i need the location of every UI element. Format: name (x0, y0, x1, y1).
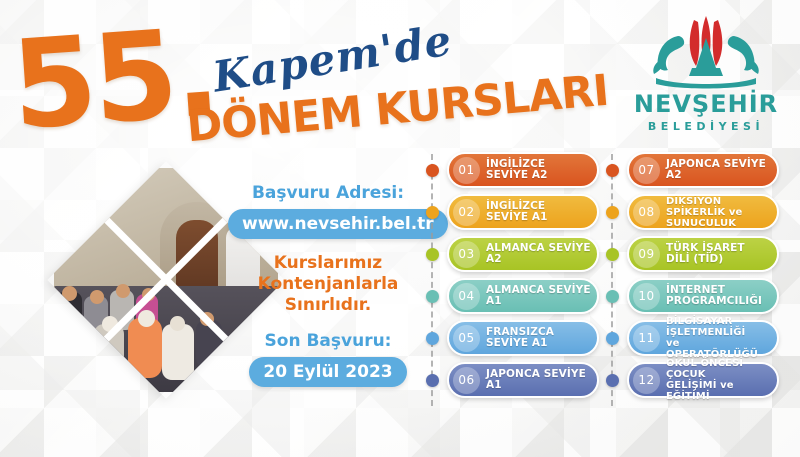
course-list-right: 07 JAPONCA SEVİYE A2 08 DİKSİYON SPİKERL… (605, 150, 780, 402)
course-item[interactable]: 10 İNTERNET PROGRAMCILIĞI (605, 276, 780, 318)
course-label-wrap: JAPONCA SEVİYE A2 (666, 159, 777, 182)
course-label: İNGİLİZCE SEVİYE A1 (486, 201, 597, 224)
course-item[interactable]: 01 İNGİLİZCE SEVİYE A2 (425, 150, 600, 192)
course-pill[interactable]: 01 İNGİLİZCE SEVİYE A2 (447, 152, 599, 188)
poster-root: 55. Kapem'de DÖNEM KURSLARI (0, 0, 800, 457)
course-label-wrap: OKUL ÖNCESİ ÇOCUK GELİŞİMİ ve EĞİTİMİ (666, 358, 777, 402)
course-label: ALMANCA SEVİYE A1 (486, 285, 597, 308)
course-pill[interactable]: 03 ALMANCA SEVİYE A2 (447, 236, 599, 272)
headline-block: 55. Kapem'de DÖNEM KURSLARI (0, 0, 620, 160)
course-number: 11 (633, 325, 660, 352)
timeline-dot-icon (426, 206, 439, 219)
course-label-line2: ve OPERATÖRLÜĞÜ (666, 338, 771, 360)
logo-emblem-icon (626, 14, 786, 92)
course-pill[interactable]: 10 İNTERNET PROGRAMCILIĞI (627, 278, 779, 314)
application-address-link[interactable]: www.nevsehir.bel.tr (228, 209, 448, 239)
course-number: 03 (453, 241, 480, 268)
quota-note-line3: Sınırlıdır. (228, 295, 428, 316)
timeline-dot-icon (426, 374, 439, 387)
course-label-wrap: TÜRK İŞARET DİLİ (TİD) (666, 243, 777, 266)
timeline-dot-icon (606, 248, 619, 261)
course-label: JAPONCA SEVİYE A1 (486, 369, 597, 392)
course-number: 10 (633, 283, 660, 310)
deadline-date-badge: 20 Eylül 2023 (249, 357, 406, 387)
course-pill[interactable]: 12 OKUL ÖNCESİ ÇOCUK GELİŞİMİ ve EĞİTİMİ (627, 362, 779, 398)
course-label-line2: SUNUCULUK (666, 218, 771, 229)
course-label: BİLGİSAYAR İŞLETMENLİĞİ (666, 316, 771, 338)
application-address-label: Başvuru Adresi: (228, 182, 428, 204)
timeline-dot-icon (606, 206, 619, 219)
timeline-dot-icon (606, 374, 619, 387)
course-item[interactable]: 04 ALMANCA SEVİYE A1 (425, 276, 600, 318)
course-pill[interactable]: 06 JAPONCA SEVİYE A1 (447, 362, 599, 398)
course-item[interactable]: 02 İNGİLİZCE SEVİYE A1 (425, 192, 600, 234)
quota-note-line1: Kurslarımız (228, 253, 428, 274)
course-label-wrap: BİLGİSAYAR İŞLETMENLİĞİ ve OPERATÖRLÜĞÜ (666, 316, 777, 360)
course-item[interactable]: 05 FRANSIZCA SEVİYE A1 (425, 318, 600, 360)
course-pill[interactable]: 02 İNGİLİZCE SEVİYE A1 (447, 194, 599, 230)
course-label: FRANSIZCA SEVİYE A1 (486, 327, 597, 350)
quota-note: Kurslarımız Kontenjanlarla Sınırlıdır. (228, 253, 428, 316)
course-pill[interactable]: 05 FRANSIZCA SEVİYE A1 (447, 320, 599, 356)
quota-note-line2: Kontenjanlarla (228, 274, 428, 295)
course-list-left: 01 İNGİLİZCE SEVİYE A2 02 İNGİLİZCE SEVİ… (425, 150, 600, 402)
timeline-dot-icon (426, 248, 439, 261)
course-pill[interactable]: 07 JAPONCA SEVİYE A2 (627, 152, 779, 188)
timeline-dot-icon (426, 332, 439, 345)
course-number: 08 (633, 199, 660, 226)
course-number: 02 (453, 199, 480, 226)
course-pill[interactable]: 08 DİKSİYON SPİKERLİK ve SUNUCULUK (627, 194, 779, 230)
timeline-dot-icon (606, 164, 619, 177)
course-label-wrap: İNTERNET PROGRAMCILIĞI (666, 285, 777, 308)
course-item[interactable]: 08 DİKSİYON SPİKERLİK ve SUNUCULUK (605, 192, 780, 234)
application-info-block: Başvuru Adresi: www.nevsehir.bel.tr Kurs… (228, 182, 428, 387)
course-label: JAPONCA SEVİYE A2 (666, 159, 771, 182)
course-label-wrap: DİKSİYON SPİKERLİK ve SUNUCULUK (666, 196, 777, 229)
course-number: 09 (633, 241, 660, 268)
course-number: 07 (633, 157, 660, 184)
course-label: OKUL ÖNCESİ ÇOCUK (666, 358, 771, 380)
timeline-dot-icon (426, 164, 439, 177)
deadline-label: Son Başvuru: (228, 330, 428, 352)
course-label-line2: GELİŞİMİ ve EĞİTİMİ (666, 380, 771, 402)
course-item[interactable]: 03 ALMANCA SEVİYE A2 (425, 234, 600, 276)
course-pill[interactable]: 04 ALMANCA SEVİYE A1 (447, 278, 599, 314)
municipality-logo: NEVŞEHİR BELEDİYESİ (626, 14, 786, 144)
logo-name-text: NEVŞEHİR (626, 90, 786, 118)
course-label: TÜRK İŞARET DİLİ (TİD) (666, 243, 771, 266)
course-number: 01 (453, 157, 480, 184)
course-item[interactable]: 09 TÜRK İŞARET DİLİ (TİD) (605, 234, 780, 276)
course-pill[interactable]: 09 TÜRK İŞARET DİLİ (TİD) (627, 236, 779, 272)
course-number: 06 (453, 367, 480, 394)
course-number: 04 (453, 283, 480, 310)
logo-subtitle-text: BELEDİYESİ (626, 120, 786, 133)
course-number: 12 (633, 367, 660, 394)
course-pill[interactable]: 11 BİLGİSAYAR İŞLETMENLİĞİ ve OPERATÖRLÜ… (627, 320, 779, 356)
course-number: 05 (453, 325, 480, 352)
timeline-dot-icon (606, 290, 619, 303)
course-label: DİKSİYON SPİKERLİK ve (666, 196, 771, 218)
course-item[interactable]: 06 JAPONCA SEVİYE A1 (425, 360, 600, 402)
course-item[interactable]: 11 BİLGİSAYAR İŞLETMENLİĞİ ve OPERATÖRLÜ… (605, 318, 780, 360)
course-label: İNTERNET PROGRAMCILIĞI (666, 285, 771, 308)
course-label: ALMANCA SEVİYE A2 (486, 243, 597, 266)
course-item[interactable]: 07 JAPONCA SEVİYE A2 (605, 150, 780, 192)
course-label: İNGİLİZCE SEVİYE A2 (486, 159, 597, 182)
timeline-dot-icon (426, 290, 439, 303)
course-item[interactable]: 12 OKUL ÖNCESİ ÇOCUK GELİŞİMİ ve EĞİTİMİ (605, 360, 780, 402)
timeline-dot-icon (606, 332, 619, 345)
